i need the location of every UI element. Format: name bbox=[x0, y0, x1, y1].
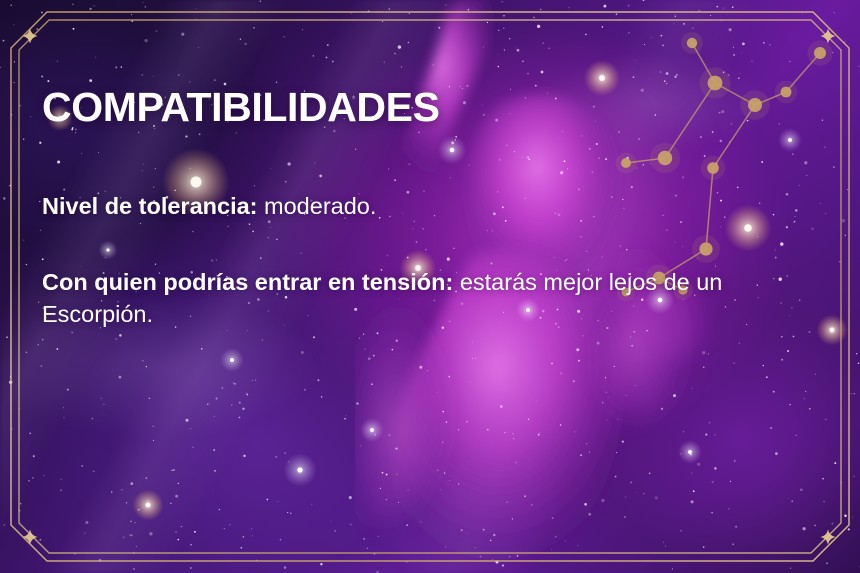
text-content: COMPATIBILIDADES Nivel de tolerancia: mo… bbox=[42, 86, 832, 330]
tension-line: Con quien podrías entrar en tensión: est… bbox=[42, 267, 817, 330]
tolerance-line: Nivel de tolerancia: moderado. bbox=[42, 191, 832, 222]
page-title: COMPATIBILIDADES bbox=[42, 86, 832, 129]
tolerance-value: moderado. bbox=[258, 193, 377, 219]
tension-label: Con quien podrías entrar en tensión: bbox=[42, 269, 453, 295]
tolerance-label: Nivel de tolerancia: bbox=[42, 193, 258, 219]
horoscope-compatibility-card: COMPATIBILIDADES Nivel de tolerancia: mo… bbox=[0, 0, 860, 573]
